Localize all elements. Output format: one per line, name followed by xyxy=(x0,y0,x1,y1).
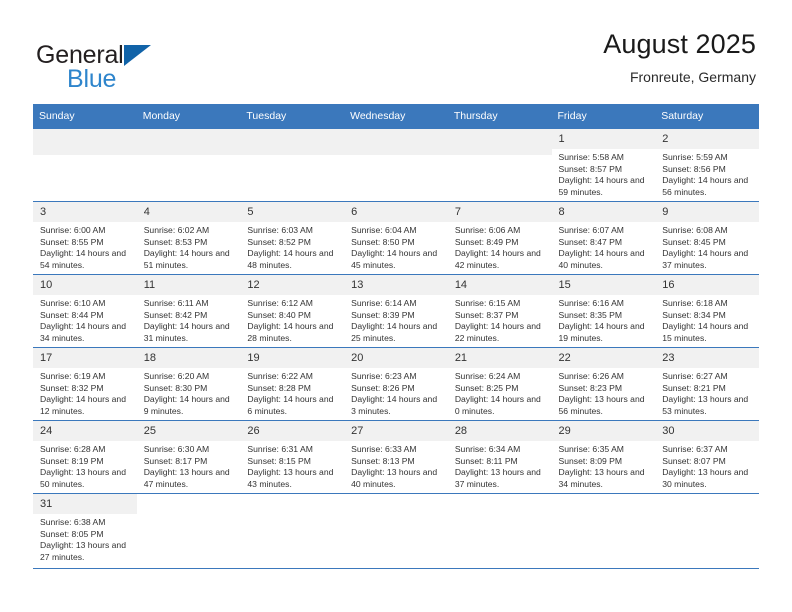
sunrise-text: Sunrise: 6:12 AM xyxy=(247,298,338,310)
day-number: 19 xyxy=(240,348,344,368)
sunrise-text: Sunrise: 6:22 AM xyxy=(247,371,338,383)
sunset-text: Sunset: 8:07 PM xyxy=(662,456,753,468)
sunrise-text: Sunrise: 6:14 AM xyxy=(351,298,442,310)
daylight-text: Daylight: 14 hours and 45 minutes. xyxy=(351,248,442,271)
day-cell[interactable]: 28Sunrise: 6:34 AMSunset: 8:11 PMDayligh… xyxy=(448,421,552,494)
sunrise-text: Sunrise: 6:08 AM xyxy=(662,225,753,237)
daylight-text: Daylight: 14 hours and 31 minutes. xyxy=(144,321,235,344)
day-details: Sunrise: 6:33 AMSunset: 8:13 PMDaylight:… xyxy=(344,441,448,490)
day-details: Sunrise: 6:20 AMSunset: 8:30 PMDaylight:… xyxy=(137,368,241,417)
day-cell[interactable]: 7Sunrise: 6:06 AMSunset: 8:49 PMDaylight… xyxy=(448,202,552,275)
day-cell[interactable]: 15Sunrise: 6:16 AMSunset: 8:35 PMDayligh… xyxy=(552,275,656,348)
daylight-text: Daylight: 13 hours and 37 minutes. xyxy=(455,467,546,490)
day-details: Sunrise: 6:00 AMSunset: 8:55 PMDaylight:… xyxy=(33,222,137,271)
weekday-header-wednesday: Wednesday xyxy=(344,104,448,129)
day-details: Sunrise: 6:07 AMSunset: 8:47 PMDaylight:… xyxy=(552,222,656,271)
day-details: Sunrise: 6:31 AMSunset: 8:15 PMDaylight:… xyxy=(240,441,344,490)
sunset-text: Sunset: 8:26 PM xyxy=(351,383,442,395)
day-cell-empty xyxy=(552,494,656,569)
sunrise-text: Sunrise: 6:06 AM xyxy=(455,225,546,237)
day-number: 20 xyxy=(344,348,448,368)
weekday-header-thursday: Thursday xyxy=(448,104,552,129)
day-number: 29 xyxy=(552,421,656,441)
sunrise-text: Sunrise: 6:00 AM xyxy=(40,225,131,237)
day-number: 6 xyxy=(344,202,448,222)
sunrise-text: Sunrise: 6:04 AM xyxy=(351,225,442,237)
sunrise-text: Sunrise: 5:59 AM xyxy=(662,152,753,164)
day-cell[interactable]: 3Sunrise: 6:00 AMSunset: 8:55 PMDaylight… xyxy=(33,202,137,275)
day-cell[interactable]: 30Sunrise: 6:37 AMSunset: 8:07 PMDayligh… xyxy=(655,421,759,494)
day-details: Sunrise: 6:24 AMSunset: 8:25 PMDaylight:… xyxy=(448,368,552,417)
sunrise-text: Sunrise: 6:16 AM xyxy=(559,298,650,310)
sunrise-text: Sunrise: 6:20 AM xyxy=(144,371,235,383)
daylight-text: Daylight: 13 hours and 34 minutes. xyxy=(559,467,650,490)
day-cell[interactable]: 29Sunrise: 6:35 AMSunset: 8:09 PMDayligh… xyxy=(552,421,656,494)
day-cell[interactable]: 17Sunrise: 6:19 AMSunset: 8:32 PMDayligh… xyxy=(33,348,137,421)
sunrise-text: Sunrise: 6:11 AM xyxy=(144,298,235,310)
day-cell[interactable]: 5Sunrise: 6:03 AMSunset: 8:52 PMDaylight… xyxy=(240,202,344,275)
sunset-text: Sunset: 8:09 PM xyxy=(559,456,650,468)
daylight-text: Daylight: 14 hours and 3 minutes. xyxy=(351,394,442,417)
day-details: Sunrise: 6:38 AMSunset: 8:05 PMDaylight:… xyxy=(33,514,137,563)
day-details: Sunrise: 6:16 AMSunset: 8:35 PMDaylight:… xyxy=(552,295,656,344)
day-cell[interactable]: 12Sunrise: 6:12 AMSunset: 8:40 PMDayligh… xyxy=(240,275,344,348)
sunset-text: Sunset: 8:37 PM xyxy=(455,310,546,322)
weekday-header-tuesday: Tuesday xyxy=(240,104,344,129)
day-cell[interactable]: 13Sunrise: 6:14 AMSunset: 8:39 PMDayligh… xyxy=(344,275,448,348)
sunset-text: Sunset: 8:47 PM xyxy=(559,237,650,249)
day-number: 22 xyxy=(552,348,656,368)
day-details: Sunrise: 6:10 AMSunset: 8:44 PMDaylight:… xyxy=(33,295,137,344)
sunrise-text: Sunrise: 6:35 AM xyxy=(559,444,650,456)
day-cell-empty xyxy=(344,494,448,569)
sunrise-text: Sunrise: 6:23 AM xyxy=(351,371,442,383)
sunset-text: Sunset: 8:28 PM xyxy=(247,383,338,395)
daylight-text: Daylight: 14 hours and 9 minutes. xyxy=(144,394,235,417)
day-details: Sunrise: 6:35 AMSunset: 8:09 PMDaylight:… xyxy=(552,441,656,490)
sunset-text: Sunset: 8:42 PM xyxy=(144,310,235,322)
day-cell-blank xyxy=(344,129,448,202)
sunrise-text: Sunrise: 6:37 AM xyxy=(662,444,753,456)
day-details: Sunrise: 6:18 AMSunset: 8:34 PMDaylight:… xyxy=(655,295,759,344)
day-cell[interactable]: 1Sunrise: 5:58 AMSunset: 8:57 PMDaylight… xyxy=(552,129,656,202)
sunset-text: Sunset: 8:30 PM xyxy=(144,383,235,395)
day-details: Sunrise: 6:37 AMSunset: 8:07 PMDaylight:… xyxy=(655,441,759,490)
daylight-text: Daylight: 14 hours and 6 minutes. xyxy=(247,394,338,417)
daylight-text: Daylight: 14 hours and 37 minutes. xyxy=(662,248,753,271)
daylight-text: Daylight: 14 hours and 59 minutes. xyxy=(559,175,650,198)
day-number: 27 xyxy=(344,421,448,441)
day-cell[interactable]: 20Sunrise: 6:23 AMSunset: 8:26 PMDayligh… xyxy=(344,348,448,421)
calendar-week-row: 17Sunrise: 6:19 AMSunset: 8:32 PMDayligh… xyxy=(33,348,759,421)
day-cell[interactable]: 8Sunrise: 6:07 AMSunset: 8:47 PMDaylight… xyxy=(552,202,656,275)
calendar-week-row: 24Sunrise: 6:28 AMSunset: 8:19 PMDayligh… xyxy=(33,421,759,494)
daylight-text: Daylight: 14 hours and 19 minutes. xyxy=(559,321,650,344)
sunrise-text: Sunrise: 5:58 AM xyxy=(559,152,650,164)
day-cell[interactable]: 26Sunrise: 6:31 AMSunset: 8:15 PMDayligh… xyxy=(240,421,344,494)
daylight-text: Daylight: 14 hours and 34 minutes. xyxy=(40,321,131,344)
daylight-text: Daylight: 13 hours and 50 minutes. xyxy=(40,467,131,490)
day-cell[interactable]: 19Sunrise: 6:22 AMSunset: 8:28 PMDayligh… xyxy=(240,348,344,421)
day-cell-blank xyxy=(33,129,137,202)
day-number: 23 xyxy=(655,348,759,368)
day-cell-empty xyxy=(448,494,552,569)
general-blue-logo: General Blue xyxy=(36,42,266,98)
day-cell[interactable]: 22Sunrise: 6:26 AMSunset: 8:23 PMDayligh… xyxy=(552,348,656,421)
weekday-header-monday: Monday xyxy=(137,104,241,129)
day-number: 13 xyxy=(344,275,448,295)
day-cell-blank xyxy=(240,129,344,202)
day-number: 28 xyxy=(448,421,552,441)
day-number: 11 xyxy=(137,275,241,295)
day-number: 3 xyxy=(33,202,137,222)
day-number: 8 xyxy=(552,202,656,222)
sunset-text: Sunset: 8:53 PM xyxy=(144,237,235,249)
day-details: Sunrise: 6:26 AMSunset: 8:23 PMDaylight:… xyxy=(552,368,656,417)
day-details: Sunrise: 6:08 AMSunset: 8:45 PMDaylight:… xyxy=(655,222,759,271)
sunrise-text: Sunrise: 6:07 AM xyxy=(559,225,650,237)
sunset-text: Sunset: 8:05 PM xyxy=(40,529,131,541)
day-cell[interactable]: 24Sunrise: 6:28 AMSunset: 8:19 PMDayligh… xyxy=(33,421,137,494)
day-cell[interactable]: 4Sunrise: 6:02 AMSunset: 8:53 PMDaylight… xyxy=(137,202,241,275)
sunrise-text: Sunrise: 6:19 AM xyxy=(40,371,131,383)
daylight-text: Daylight: 14 hours and 22 minutes. xyxy=(455,321,546,344)
sunset-text: Sunset: 8:45 PM xyxy=(662,237,753,249)
daylight-text: Daylight: 14 hours and 48 minutes. xyxy=(247,248,338,271)
daylight-text: Daylight: 13 hours and 40 minutes. xyxy=(351,467,442,490)
day-details: Sunrise: 6:15 AMSunset: 8:37 PMDaylight:… xyxy=(448,295,552,344)
sunset-text: Sunset: 8:50 PM xyxy=(351,237,442,249)
sunset-text: Sunset: 8:17 PM xyxy=(144,456,235,468)
daylight-text: Daylight: 13 hours and 56 minutes. xyxy=(559,394,650,417)
sunset-text: Sunset: 8:32 PM xyxy=(40,383,131,395)
day-cell[interactable]: 14Sunrise: 6:15 AMSunset: 8:37 PMDayligh… xyxy=(448,275,552,348)
page-header: General Blue August 2025 Fronreute, Germ… xyxy=(0,0,792,104)
day-cell-empty xyxy=(240,494,344,569)
daylight-text: Daylight: 14 hours and 28 minutes. xyxy=(247,321,338,344)
sunset-text: Sunset: 8:52 PM xyxy=(247,237,338,249)
day-cell[interactable]: 23Sunrise: 6:27 AMSunset: 8:21 PMDayligh… xyxy=(655,348,759,421)
day-number: 31 xyxy=(33,494,137,514)
daylight-text: Daylight: 14 hours and 12 minutes. xyxy=(40,394,131,417)
daylight-text: Daylight: 14 hours and 15 minutes. xyxy=(662,321,753,344)
day-cell-blank xyxy=(137,129,241,202)
day-details: Sunrise: 6:04 AMSunset: 8:50 PMDaylight:… xyxy=(344,222,448,271)
day-cell[interactable]: 9Sunrise: 6:08 AMSunset: 8:45 PMDaylight… xyxy=(655,202,759,275)
calendar-week-row: 1Sunrise: 5:58 AMSunset: 8:57 PMDaylight… xyxy=(33,129,759,202)
day-details: Sunrise: 6:03 AMSunset: 8:52 PMDaylight:… xyxy=(240,222,344,271)
sunrise-text: Sunrise: 6:38 AM xyxy=(40,517,131,529)
day-number: 30 xyxy=(655,421,759,441)
daylight-text: Daylight: 14 hours and 0 minutes. xyxy=(455,394,546,417)
day-number: 17 xyxy=(33,348,137,368)
daylight-text: Daylight: 14 hours and 25 minutes. xyxy=(351,321,442,344)
day-details: Sunrise: 6:22 AMSunset: 8:28 PMDaylight:… xyxy=(240,368,344,417)
sunrise-text: Sunrise: 6:30 AM xyxy=(144,444,235,456)
day-cell-empty xyxy=(137,494,241,569)
sunset-text: Sunset: 8:35 PM xyxy=(559,310,650,322)
sunset-text: Sunset: 8:44 PM xyxy=(40,310,131,322)
day-details: Sunrise: 6:30 AMSunset: 8:17 PMDaylight:… xyxy=(137,441,241,490)
daylight-text: Daylight: 14 hours and 56 minutes. xyxy=(662,175,753,198)
sunset-text: Sunset: 8:25 PM xyxy=(455,383,546,395)
day-details: Sunrise: 6:23 AMSunset: 8:26 PMDaylight:… xyxy=(344,368,448,417)
day-details: Sunrise: 6:11 AMSunset: 8:42 PMDaylight:… xyxy=(137,295,241,344)
title-block: August 2025 Fronreute, Germany xyxy=(603,28,756,85)
day-number: 4 xyxy=(137,202,241,222)
day-cell[interactable]: 6Sunrise: 6:04 AMSunset: 8:50 PMDaylight… xyxy=(344,202,448,275)
day-number: 10 xyxy=(33,275,137,295)
day-cell[interactable]: 2Sunrise: 5:59 AMSunset: 8:56 PMDaylight… xyxy=(655,129,759,202)
sunrise-text: Sunrise: 6:10 AM xyxy=(40,298,131,310)
sunset-text: Sunset: 8:40 PM xyxy=(247,310,338,322)
day-cell[interactable]: 18Sunrise: 6:20 AMSunset: 8:30 PMDayligh… xyxy=(137,348,241,421)
sunrise-text: Sunrise: 6:34 AM xyxy=(455,444,546,456)
sunset-text: Sunset: 8:49 PM xyxy=(455,237,546,249)
day-cell[interactable]: 31Sunrise: 6:38 AMSunset: 8:05 PMDayligh… xyxy=(33,494,137,569)
weekday-header-friday: Friday xyxy=(552,104,656,129)
day-details: Sunrise: 6:14 AMSunset: 8:39 PMDaylight:… xyxy=(344,295,448,344)
sunrise-text: Sunrise: 6:18 AM xyxy=(662,298,753,310)
daylight-text: Daylight: 13 hours and 27 minutes. xyxy=(40,540,131,563)
sunset-text: Sunset: 8:11 PM xyxy=(455,456,546,468)
sunset-text: Sunset: 8:15 PM xyxy=(247,456,338,468)
sunset-text: Sunset: 8:56 PM xyxy=(662,164,753,176)
day-details: Sunrise: 6:19 AMSunset: 8:32 PMDaylight:… xyxy=(33,368,137,417)
day-number: 16 xyxy=(655,275,759,295)
day-details: Sunrise: 5:59 AMSunset: 8:56 PMDaylight:… xyxy=(655,149,759,198)
sunrise-text: Sunrise: 6:28 AM xyxy=(40,444,131,456)
sunrise-text: Sunrise: 6:33 AM xyxy=(351,444,442,456)
day-cell[interactable]: 21Sunrise: 6:24 AMSunset: 8:25 PMDayligh… xyxy=(448,348,552,421)
day-details: Sunrise: 5:58 AMSunset: 8:57 PMDaylight:… xyxy=(552,149,656,198)
sunset-text: Sunset: 8:39 PM xyxy=(351,310,442,322)
day-cell-blank xyxy=(448,129,552,202)
sunset-text: Sunset: 8:34 PM xyxy=(662,310,753,322)
logo-triangle-icon xyxy=(124,45,151,66)
calendar-body: 1Sunrise: 5:58 AMSunset: 8:57 PMDaylight… xyxy=(33,129,759,569)
sunset-text: Sunset: 8:23 PM xyxy=(559,383,650,395)
day-cell[interactable]: 27Sunrise: 6:33 AMSunset: 8:13 PMDayligh… xyxy=(344,421,448,494)
daylight-text: Daylight: 13 hours and 47 minutes. xyxy=(144,467,235,490)
day-details: Sunrise: 6:06 AMSunset: 8:49 PMDaylight:… xyxy=(448,222,552,271)
day-number: 1 xyxy=(552,129,656,149)
day-number: 7 xyxy=(448,202,552,222)
daylight-text: Daylight: 14 hours and 54 minutes. xyxy=(40,248,131,271)
day-cell[interactable]: 25Sunrise: 6:30 AMSunset: 8:17 PMDayligh… xyxy=(137,421,241,494)
daylight-text: Daylight: 13 hours and 30 minutes. xyxy=(662,467,753,490)
calendar-grid: SundayMondayTuesdayWednesdayThursdayFrid… xyxy=(33,104,759,569)
day-cell[interactable]: 16Sunrise: 6:18 AMSunset: 8:34 PMDayligh… xyxy=(655,275,759,348)
calendar-header-row: SundayMondayTuesdayWednesdayThursdayFrid… xyxy=(33,104,759,129)
calendar-week-row: 10Sunrise: 6:10 AMSunset: 8:44 PMDayligh… xyxy=(33,275,759,348)
sunrise-text: Sunrise: 6:26 AM xyxy=(559,371,650,383)
day-details: Sunrise: 6:34 AMSunset: 8:11 PMDaylight:… xyxy=(448,441,552,490)
page-title: August 2025 xyxy=(603,28,756,60)
daylight-text: Daylight: 13 hours and 53 minutes. xyxy=(662,394,753,417)
day-number: 9 xyxy=(655,202,759,222)
day-number: 5 xyxy=(240,202,344,222)
day-cell[interactable]: 10Sunrise: 6:10 AMSunset: 8:44 PMDayligh… xyxy=(33,275,137,348)
sunrise-text: Sunrise: 6:02 AM xyxy=(144,225,235,237)
calendar-page: General Blue August 2025 Fronreute, Germ… xyxy=(0,0,792,612)
sunrise-text: Sunrise: 6:31 AM xyxy=(247,444,338,456)
day-details: Sunrise: 6:12 AMSunset: 8:40 PMDaylight:… xyxy=(240,295,344,344)
day-number: 21 xyxy=(448,348,552,368)
sunset-text: Sunset: 8:57 PM xyxy=(559,164,650,176)
calendar-week-row: 3Sunrise: 6:00 AMSunset: 8:55 PMDaylight… xyxy=(33,202,759,275)
daylight-text: Daylight: 13 hours and 43 minutes. xyxy=(247,467,338,490)
daylight-text: Daylight: 14 hours and 42 minutes. xyxy=(455,248,546,271)
sunrise-text: Sunrise: 6:15 AM xyxy=(455,298,546,310)
sunset-text: Sunset: 8:13 PM xyxy=(351,456,442,468)
weekday-header-saturday: Saturday xyxy=(655,104,759,129)
weekday-header-sunday: Sunday xyxy=(33,104,137,129)
sunset-text: Sunset: 8:21 PM xyxy=(662,383,753,395)
day-number: 26 xyxy=(240,421,344,441)
day-number: 25 xyxy=(137,421,241,441)
day-number: 2 xyxy=(655,129,759,149)
day-number: 15 xyxy=(552,275,656,295)
page-subtitle: Fronreute, Germany xyxy=(603,69,756,85)
day-cell-empty xyxy=(655,494,759,569)
day-details: Sunrise: 6:02 AMSunset: 8:53 PMDaylight:… xyxy=(137,222,241,271)
day-number: 24 xyxy=(33,421,137,441)
daylight-text: Daylight: 14 hours and 40 minutes. xyxy=(559,248,650,271)
sunrise-text: Sunrise: 6:03 AM xyxy=(247,225,338,237)
sunrise-text: Sunrise: 6:24 AM xyxy=(455,371,546,383)
daylight-text: Daylight: 14 hours and 51 minutes. xyxy=(144,248,235,271)
logo-text-blue: Blue xyxy=(67,66,116,92)
calendar-week-row: 31Sunrise: 6:38 AMSunset: 8:05 PMDayligh… xyxy=(33,494,759,569)
day-cell[interactable]: 11Sunrise: 6:11 AMSunset: 8:42 PMDayligh… xyxy=(137,275,241,348)
day-number: 14 xyxy=(448,275,552,295)
day-details: Sunrise: 6:27 AMSunset: 8:21 PMDaylight:… xyxy=(655,368,759,417)
sunrise-text: Sunrise: 6:27 AM xyxy=(662,371,753,383)
day-number: 12 xyxy=(240,275,344,295)
day-number: 18 xyxy=(137,348,241,368)
sunset-text: Sunset: 8:19 PM xyxy=(40,456,131,468)
sunset-text: Sunset: 8:55 PM xyxy=(40,237,131,249)
day-details: Sunrise: 6:28 AMSunset: 8:19 PMDaylight:… xyxy=(33,441,137,490)
